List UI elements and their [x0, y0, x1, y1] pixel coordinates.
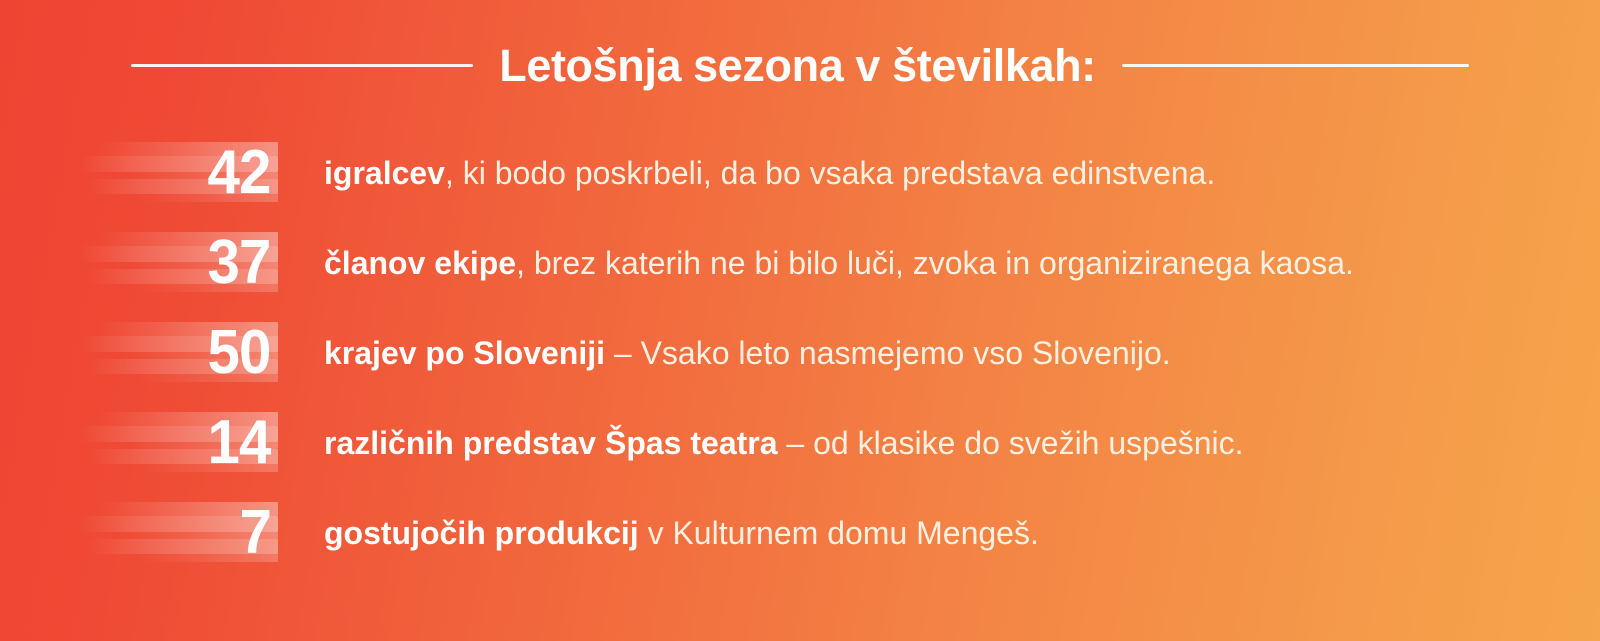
stat-number-block: 37 [0, 218, 278, 308]
stat-label-rest: v Kulturnem domu Mengeš. [639, 515, 1039, 551]
stat-number-block: 50 [0, 308, 278, 398]
stat-number: 42 [208, 142, 278, 204]
title-rule-right [1122, 64, 1469, 67]
stat-number-block: 7 [0, 488, 278, 578]
stat-number: 50 [208, 322, 278, 384]
stat-row: 37 članov ekipe, brez katerih ne bi bilo… [0, 218, 1600, 308]
stats-list: 42 igralcev, ki bodo poskrbeli, da bo vs… [0, 128, 1600, 578]
stat-row: 50 krajev po Sloveniji – Vsako leto nasm… [0, 308, 1600, 398]
stat-description: različnih predstav Špas teatra – od klas… [278, 425, 1600, 462]
stat-label-rest: , ki bodo poskrbeli, da bo vsaka predsta… [445, 155, 1215, 191]
stat-label-rest: – Vsako leto nasmejemo vso Slovenijo. [605, 335, 1171, 371]
stat-number-block: 42 [0, 128, 278, 218]
stat-label-bold: različnih predstav Špas teatra [324, 425, 778, 461]
stat-number: 37 [208, 232, 278, 294]
stat-description: igralcev, ki bodo poskrbeli, da bo vsaka… [278, 155, 1600, 192]
stat-description: gostujočih produkcij v Kulturnem domu Me… [278, 515, 1600, 552]
stat-description: krajev po Sloveniji – Vsako leto nasmeje… [278, 335, 1600, 372]
stat-label-bold: krajev po Sloveniji [324, 335, 605, 371]
infographic-poster: Letošnja sezona v številkah: 42 igralcev… [0, 0, 1600, 641]
stat-row: 14 različnih predstav Špas teatra – od k… [0, 398, 1600, 488]
stat-number: 14 [208, 412, 278, 474]
stat-number-block: 14 [0, 398, 278, 488]
title-band: Letošnja sezona v številkah: [0, 30, 1600, 100]
stat-number: 7 [239, 502, 278, 564]
stat-label-rest: , brez katerih ne bi bilo luči, zvoka in… [516, 245, 1354, 281]
title-rule-left [131, 64, 473, 67]
stat-label-bold: gostujočih produkcij [324, 515, 639, 551]
speed-streak-icon [0, 488, 278, 578]
stat-label-bold: igralcev [324, 155, 445, 191]
stat-label-bold: članov ekipe [324, 245, 516, 281]
page-title: Letošnja sezona v številkah: [499, 43, 1096, 88]
stat-row: 42 igralcev, ki bodo poskrbeli, da bo vs… [0, 128, 1600, 218]
stat-label-rest: – od klasike do svežih uspešnic. [778, 425, 1244, 461]
stat-row: 7 gostujočih produkcij v Kulturnem domu … [0, 488, 1600, 578]
stat-description: članov ekipe, brez katerih ne bi bilo lu… [278, 245, 1600, 282]
